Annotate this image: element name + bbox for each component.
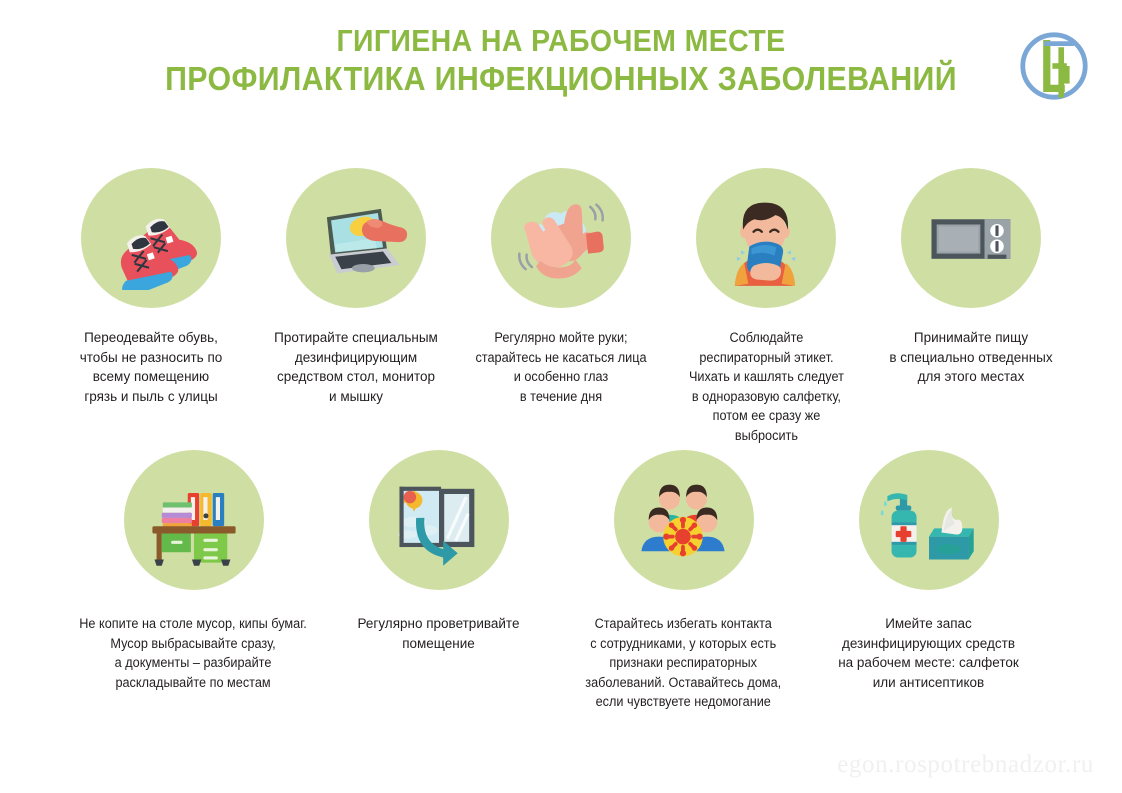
running-shoes-icon: [99, 186, 203, 290]
tip-caption-2: Протирайте специальным дезинфицирующим с…: [274, 328, 438, 406]
open-window-ventilation-icon: [387, 468, 491, 572]
tips-row-1: Переодевайте обувь, чтобы не разносить п…: [0, 168, 1122, 445]
tip-card-4: Соблюдайте респираторный этикет. Чихать …: [664, 168, 869, 445]
tip-icon-circle-7: [369, 450, 509, 590]
title-block: ГИГИЕНА НА РАБОЧЕМ МЕСТЕ ПРОФИЛАКТИКА ИН…: [96, 24, 1026, 97]
tip-card-5: Принимайте пищу в специально отведенных …: [869, 168, 1074, 387]
tip-icon-circle-8: [614, 450, 754, 590]
tip-card-3: Регулярно мойте руки; старайтесь не каса…: [459, 168, 664, 406]
sanitizer-and-tissues-icon: [877, 468, 981, 572]
tip-icon-circle-4: [696, 168, 836, 308]
tip-caption-4: Соблюдайте респираторный этикет. Чихать …: [689, 328, 844, 445]
site-watermark: egon.rospotrebnadzor.ru: [837, 751, 1094, 779]
tip-card-2: Протирайте специальным дезинфицирующим с…: [254, 168, 459, 406]
tip-card-8: Старайтесь избегать контакта с сотрудник…: [561, 450, 806, 712]
tip-caption-3: Регулярно мойте руки; старайтесь не каса…: [475, 328, 646, 406]
tip-caption-6: Не копите на столе мусор, кипы бумаг. Му…: [80, 614, 308, 692]
tip-icon-circle-1: [81, 168, 221, 308]
tip-caption-5: Принимайте пищу в специально отведенных …: [889, 328, 1052, 387]
page-header: ГИГИЕНА НА РАБОЧЕМ МЕСТЕ ПРОФИЛАКТИКА ИН…: [0, 0, 1122, 130]
sneezing-into-tissue-icon: [714, 186, 818, 290]
tip-caption-7: Регулярно проветривайте помещение: [358, 614, 520, 653]
group-of-people-virus-icon: [632, 468, 736, 572]
tip-icon-circle-9: [859, 450, 999, 590]
tip-card-9: Имейте запас дезинфицирующих средств на …: [806, 450, 1051, 692]
desk-with-papers-icon: [142, 468, 246, 572]
tip-icon-circle-3: [491, 168, 631, 308]
hand-washing-icon: [509, 186, 613, 290]
tip-caption-9: Имейте запас дезинфицирующих средств на …: [838, 614, 1019, 692]
tip-caption-1: Переодевайте обувь, чтобы не разносить п…: [80, 328, 223, 406]
tip-icon-circle-5: [901, 168, 1041, 308]
page-title-line-2: ПРОФИЛАКТИКА ИНФЕКЦИОННЫХ ЗАБОЛЕВАНИЙ: [133, 61, 989, 97]
page-title-line-1: ГИГИЕНА НА РАБОЧЕМ МЕСТЕ: [133, 24, 989, 57]
tip-icon-circle-6: [124, 450, 264, 590]
tip-card-6: Не копите на столе мусор, кипы бумаг. Му…: [71, 450, 316, 692]
tip-card-7: Регулярно проветривайте помещение: [316, 450, 561, 653]
rospotrebnadzor-monogram-logo: [1014, 26, 1094, 106]
laptop-cleaning-icon: [304, 186, 408, 290]
tip-card-1: Переодевайте обувь, чтобы не разносить п…: [49, 168, 254, 406]
tip-caption-8: Старайтесь избегать контакта с сотрудник…: [586, 614, 782, 712]
tips-row-2: Не копите на столе мусор, кипы бумаг. Му…: [0, 450, 1122, 712]
microwave-icon: [919, 186, 1023, 290]
tip-icon-circle-2: [286, 168, 426, 308]
